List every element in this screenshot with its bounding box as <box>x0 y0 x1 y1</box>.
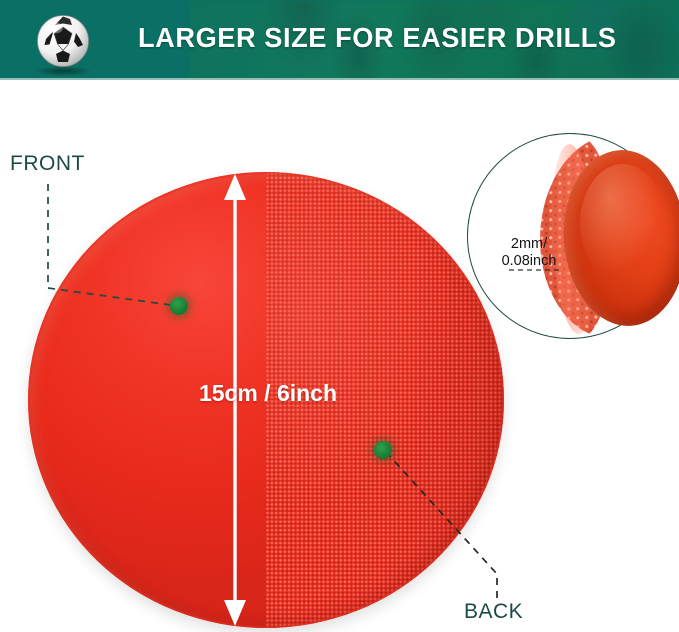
thickness-label: 2mm/ 0.08inch <box>469 236 589 270</box>
back-label: BACK <box>464 600 523 624</box>
back-marker-dot <box>374 441 392 459</box>
thickness-line-1: 2mm/ <box>469 236 589 253</box>
thickness-detail-inset: 2mm/ 0.08inch <box>466 132 679 347</box>
thickness-line-2: 0.08inch <box>469 253 589 270</box>
